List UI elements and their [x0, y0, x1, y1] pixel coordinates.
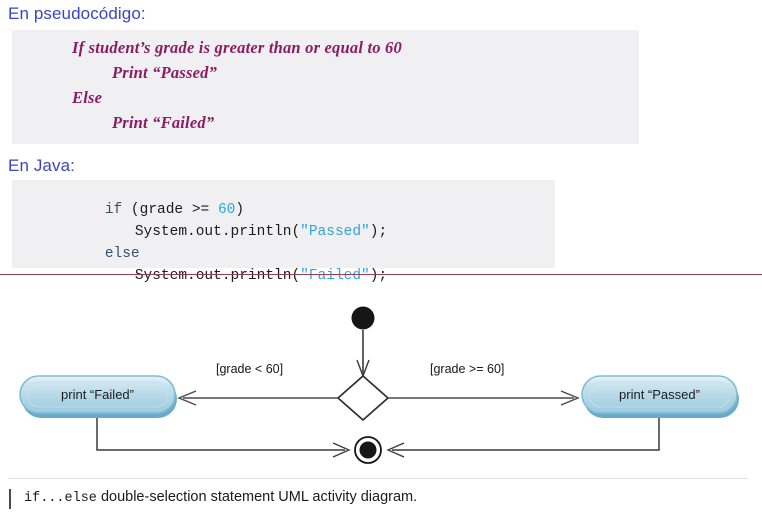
edge-failed-to-final	[97, 418, 349, 457]
edge-passed-to-final	[388, 418, 659, 457]
initial-node	[352, 307, 375, 330]
java-code-line-2: System.out.println("Passed");	[100, 208, 387, 256]
decision-diamond	[338, 376, 388, 420]
java-code-panel: if (grade >= 60) System.out.println("Pas…	[12, 180, 555, 268]
pseudocode-heading: En pseudocódigo:	[8, 4, 146, 24]
java-stmt-end-passed: );	[370, 224, 387, 240]
pseudocode-line-1: If student’s grade is greater than or eq…	[72, 38, 402, 58]
java-println-call-passed: System.out.println(	[135, 224, 300, 240]
action-node-passed-label: print “Passed”	[619, 387, 700, 402]
caption-mono-part: if...else	[24, 491, 97, 506]
java-println-call-failed: System.out.println(	[135, 268, 300, 284]
java-string-failed: "Failed"	[300, 268, 370, 284]
final-node	[355, 437, 381, 463]
caption-accent-bar	[9, 489, 11, 509]
action-node-passed: print “Passed”	[582, 376, 739, 418]
guard-label-left: [grade < 60]	[216, 362, 283, 376]
pseudocode-panel: If student’s grade is greater than or eq…	[12, 30, 639, 144]
caption-separator	[8, 478, 748, 479]
edge-decision-to-failed	[179, 391, 338, 405]
action-node-failed: print “Failed”	[20, 376, 177, 418]
action-node-failed-label: print “Failed”	[61, 387, 134, 402]
figure-caption: if...else double-selection statement UML…	[24, 489, 417, 506]
edge-decision-to-passed	[388, 391, 578, 405]
java-heading: En Java:	[8, 156, 75, 176]
section-divider	[0, 274, 762, 275]
pseudocode-line-3: Else	[72, 88, 102, 108]
uml-activity-diagram: [grade < 60] [grade >= 60] print “Failed…	[0, 288, 762, 470]
edge-initial-to-decision	[357, 330, 369, 376]
java-string-passed: "Passed"	[300, 224, 370, 240]
guard-label-right: [grade >= 60]	[430, 362, 504, 376]
caption-rest-part: double-selection statement UML activity …	[97, 489, 417, 505]
java-stmt-end-failed: );	[370, 268, 387, 284]
pseudocode-line-4: Print “Failed”	[112, 113, 214, 133]
pseudocode-line-2: Print “Passed”	[112, 63, 217, 83]
